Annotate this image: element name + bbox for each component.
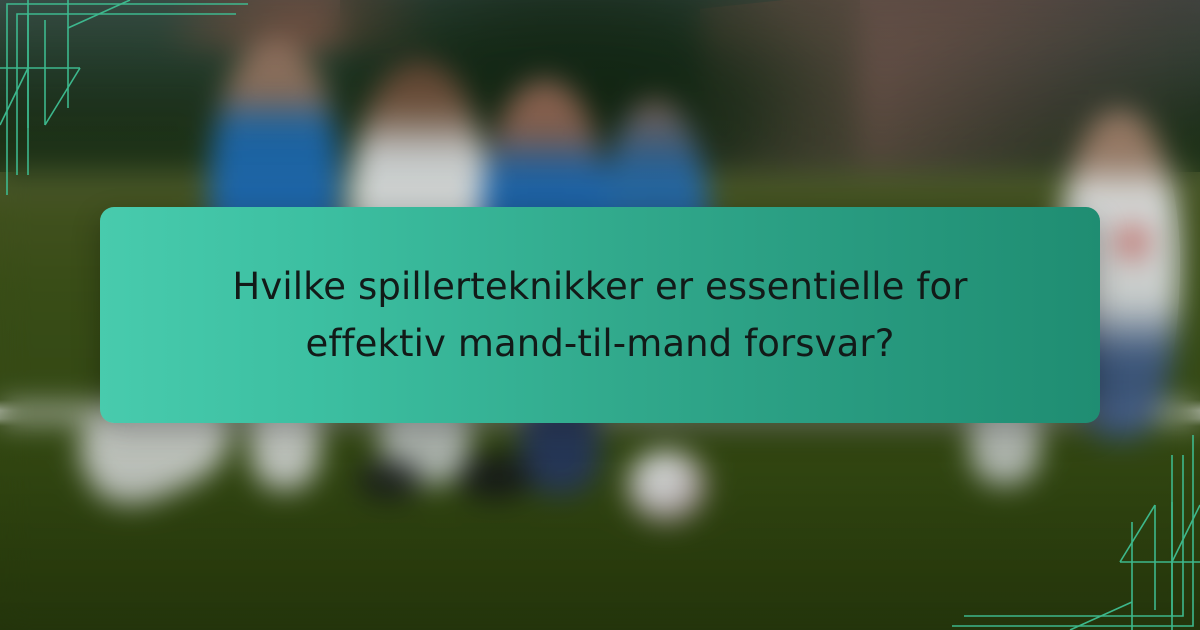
question-card: Hvilke spillerteknikker er essentielle f… [100,207,1100,423]
promo-card-canvas: Hvilke spillerteknikker er essentielle f… [0,0,1200,630]
question-text: Hvilke spillerteknikker er essentielle f… [156,258,1044,373]
